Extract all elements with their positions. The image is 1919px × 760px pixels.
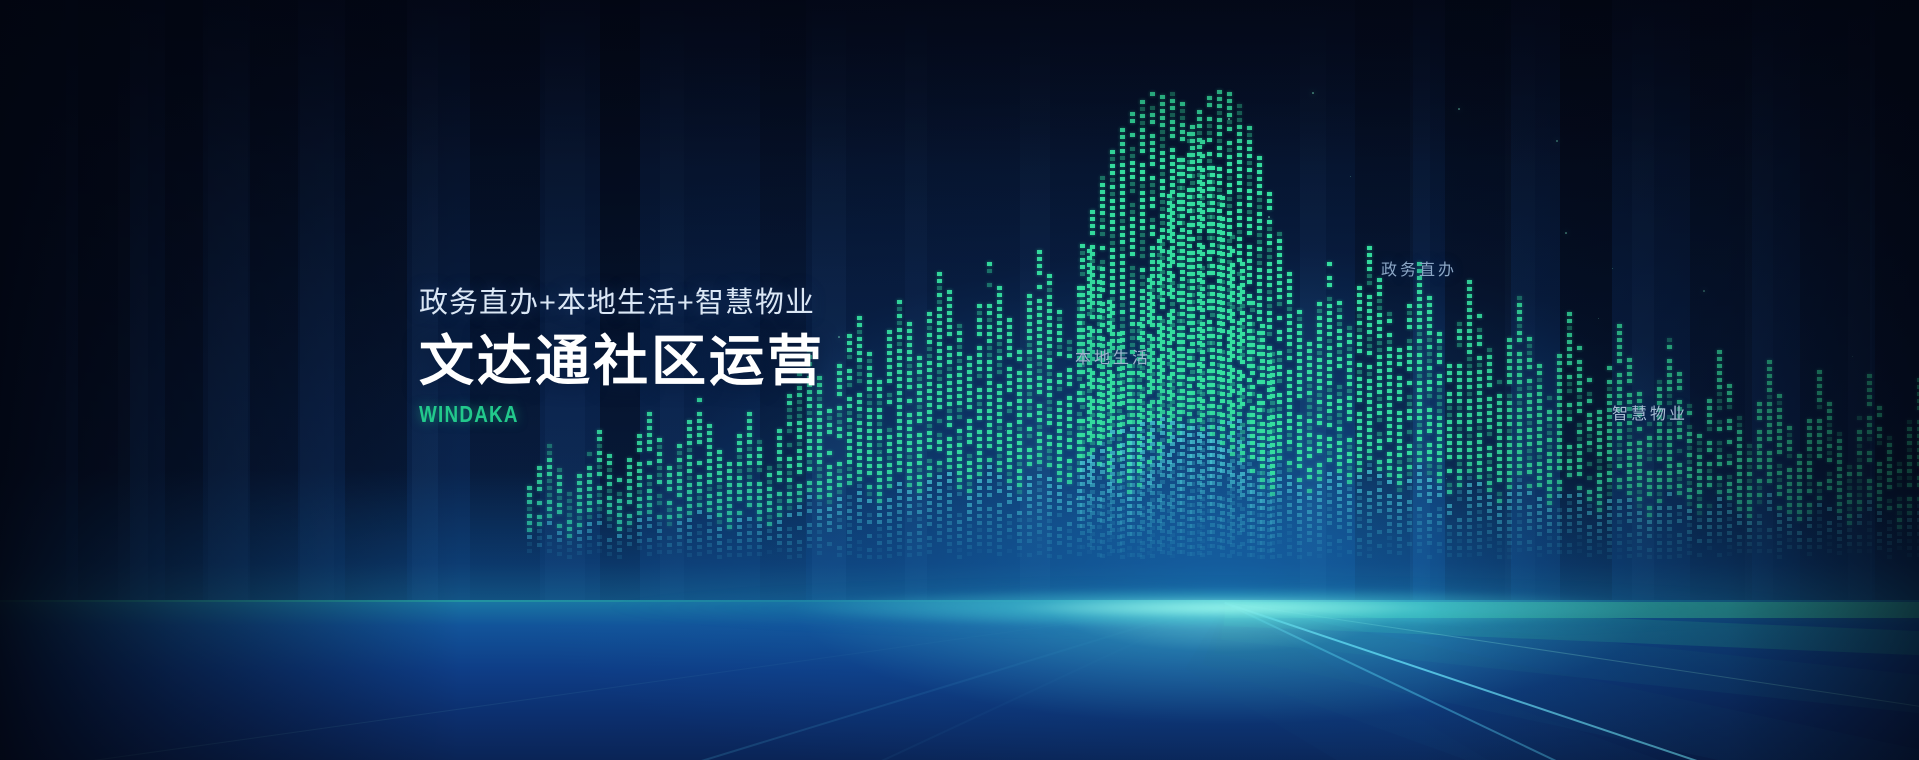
skyline-column [1517, 296, 1522, 602]
brand-wordmark: WINDAKA [419, 403, 752, 426]
skyline-column [1597, 410, 1602, 602]
skyline-column [1577, 346, 1582, 602]
skyline-column [1297, 310, 1302, 602]
skyline-column [1090, 210, 1095, 602]
sparkle-dot [1268, 216, 1270, 218]
skyline-column [1220, 196, 1225, 602]
skyline-column [1007, 318, 1012, 602]
skyline-column [1287, 272, 1292, 602]
skyline-column [777, 422, 782, 602]
floating-label-local-life: 本地生活 [1075, 344, 1151, 368]
skyline-column [1457, 322, 1462, 602]
banner-subtitle: 政务直办+本地生活+智慧物业 [419, 288, 825, 320]
skyline-column [637, 434, 642, 602]
skyline-column [1100, 176, 1105, 602]
skyline-column [1497, 380, 1502, 602]
skyline-column [1357, 286, 1362, 602]
skyline-column [747, 412, 752, 602]
dot-matrix-skyline [0, 0, 1919, 640]
skyline-column [1180, 102, 1185, 602]
skyline-column [1210, 166, 1215, 602]
horizon-glow [0, 578, 1919, 638]
skyline-column [1487, 348, 1492, 602]
skyline-column [857, 316, 862, 602]
skyline-column [1027, 294, 1032, 602]
skyline-column [1687, 404, 1692, 602]
skyline-column [1437, 332, 1442, 602]
sparkle-dot [1312, 92, 1314, 94]
skyline-column [937, 272, 942, 602]
skyline-column [1467, 280, 1472, 602]
hero-banner: 本地生活 政务直办 智慧物业 政务直办+本地生活+智慧物业 文达通社区运营 WI… [0, 0, 1919, 760]
skyline-column [1260, 324, 1265, 602]
skyline-column [1427, 296, 1432, 602]
skyline-column [1160, 88, 1165, 602]
sparkle-dot [1076, 498, 1078, 500]
skyline-column [1017, 350, 1022, 602]
skyline-column [1190, 118, 1195, 602]
sparkle-dot [1565, 232, 1567, 234]
skyline-column [597, 430, 602, 602]
skyline-column [1827, 402, 1832, 602]
skyline-column [1807, 412, 1812, 602]
banner-title: 文达通社区运营 [419, 332, 825, 391]
skyline-column [1250, 294, 1255, 602]
sparkle-dot [1458, 108, 1460, 110]
skyline-column [847, 334, 852, 602]
skyline-column [1567, 312, 1572, 602]
skyline-column [877, 380, 882, 602]
skyline-column [1707, 392, 1712, 602]
skyline-column [1767, 360, 1772, 602]
skyline-column [1817, 370, 1822, 602]
skyline-column [1240, 262, 1245, 602]
skyline-column [1777, 394, 1782, 602]
skyline-column [1877, 406, 1882, 602]
skyline-column [967, 356, 972, 602]
skyline-column [1367, 246, 1372, 602]
skyline-column [1057, 310, 1062, 602]
skyline-column [737, 434, 742, 602]
skyline-column [837, 364, 842, 602]
skyline-column [887, 330, 892, 602]
skyline-column [997, 286, 1002, 602]
skyline-column [1377, 278, 1382, 602]
skyline-column [1067, 340, 1072, 602]
skyline-column [1170, 92, 1175, 602]
skyline-column [1617, 324, 1622, 602]
skyline-column [907, 322, 912, 602]
skyline-column [927, 312, 932, 602]
skyline-column [1110, 150, 1115, 602]
floating-label-gov-service: 政务直办 [1381, 256, 1457, 280]
skyline-column [1757, 402, 1762, 602]
skyline-column [1557, 354, 1562, 602]
skyline-column [1737, 416, 1742, 602]
skyline-column [1200, 140, 1205, 602]
skyline-column [1387, 312, 1392, 602]
skyline-column [1327, 262, 1332, 602]
skyline-column [1477, 314, 1482, 602]
sparkle-dot [1703, 290, 1705, 292]
skyline-column [1717, 350, 1722, 602]
skyline-column [987, 262, 992, 602]
skyline-column [1857, 416, 1862, 602]
skyline-column [707, 424, 712, 602]
skyline-column [1080, 244, 1085, 602]
skyline-column [1417, 262, 1422, 602]
skyline-column [1647, 422, 1652, 602]
skyline-column [1270, 352, 1275, 602]
skyline-column [1527, 330, 1532, 602]
skyline-column [1537, 364, 1542, 602]
skyline-column [687, 420, 692, 602]
skyline-column [1337, 294, 1342, 602]
skyline-column [947, 290, 952, 602]
skyline-column [1907, 420, 1912, 602]
skyline-column [1397, 348, 1402, 602]
skyline-column [647, 412, 652, 602]
skyline-column [1667, 338, 1672, 602]
skyline-column [1047, 274, 1052, 602]
skyline-column [1037, 250, 1042, 602]
skyline-column [957, 324, 962, 602]
sparkle-dot [1190, 208, 1192, 210]
skyline-column [1230, 228, 1235, 602]
skyline-column [867, 352, 872, 602]
skyline-column [1277, 232, 1282, 602]
skyline-column [917, 356, 922, 602]
skyline-column [1627, 358, 1632, 602]
headline-block: 政务直办+本地生活+智慧物业 文达通社区运营 WINDAKA [419, 288, 825, 426]
skyline-column [1307, 342, 1312, 602]
skyline-column [897, 300, 902, 602]
skyline-column [1547, 396, 1552, 602]
skyline-column [1317, 302, 1322, 602]
skyline-column [977, 304, 982, 602]
skyline-column [1697, 434, 1702, 602]
skyline-column [1587, 378, 1592, 602]
skyline-column [1447, 364, 1452, 602]
skyline-column [1507, 338, 1512, 602]
skyline-column [827, 402, 832, 602]
sparkle-dot [1556, 140, 1558, 142]
skyline-column [1867, 374, 1872, 602]
skyline-column [1837, 432, 1842, 602]
skyline-column [1727, 384, 1732, 602]
skyline-column [1347, 326, 1352, 602]
skyline-column [697, 398, 702, 602]
floating-label-smart-property: 智慧物业 [1612, 400, 1688, 424]
sparkle-dot [838, 336, 840, 338]
skyline-column [1407, 304, 1412, 602]
sparkle-dot [1757, 448, 1759, 450]
skyline-column [1787, 426, 1792, 602]
